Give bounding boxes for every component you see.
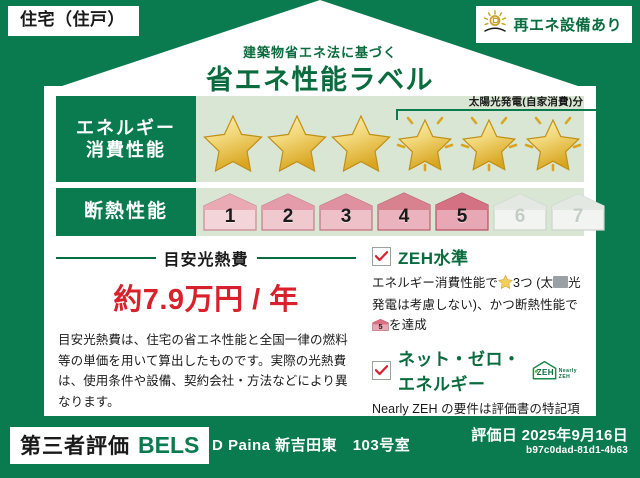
energy-star-rating [196, 112, 584, 172]
insulation-performance-row: 断熱性能 1 2 [56, 188, 584, 236]
insulation-level-6-value: 6 [492, 206, 548, 228]
net-zero-energy-title: ネット・ゼロ・エネルギー ZEH Nearly ZEH [398, 345, 584, 395]
insulation-badge-icon: 5 [372, 318, 389, 332]
insulation-level-1-value: 1 [202, 206, 258, 228]
insulation-level-5-value: 5 [434, 206, 490, 228]
label-content: エネルギー 消費性能 太陽光発電(自家消費)分 [44, 96, 596, 408]
label-title: 省エネ性能ラベル [0, 58, 640, 97]
divider-left [56, 257, 156, 259]
star-icon [266, 112, 328, 172]
evaluation-date: 評価日 2025年9月16日 [471, 424, 628, 445]
zeh-logo-subtext: Nearly ZEH [559, 369, 584, 383]
insulation-level-3-value: 3 [318, 206, 374, 228]
insulation-level-6: 6 [492, 192, 548, 232]
bels-tag-jp: 第三者評価 [20, 430, 130, 460]
energy-cost-description: 目安光熱費は、住宅の省エネ性能と全国一律の燃料等の単価を用いて算出したものです。… [56, 330, 356, 413]
insulation-level-7-value: 7 [550, 206, 606, 228]
star-icon-solar [522, 112, 584, 172]
energy-performance-row: エネルギー 消費性能 太陽光発電(自家消費)分 [56, 96, 584, 182]
solar-generation-note: 太陽光発電(自家消費)分 [396, 94, 640, 109]
insulation-level-2-value: 2 [260, 206, 316, 228]
svg-text:ZEH: ZEH [536, 368, 553, 377]
star-icon-inline [498, 274, 513, 295]
dwelling-type-tag: 住宅（住戸） [8, 6, 139, 36]
star-icon-solar [458, 112, 520, 172]
insulation-level-scale: 1 2 3 [196, 192, 606, 232]
energy-cost-heading: 目安光熱費 [56, 246, 356, 270]
insulation-performance-label: 断熱性能 [56, 188, 196, 236]
insulation-level-4: 4 [376, 192, 432, 232]
insulation-performance-value: 1 2 3 [196, 188, 606, 236]
insulation-level-7: 7 [550, 192, 606, 232]
energy-performance-label: エネルギー 消費性能 [56, 96, 196, 182]
energy-performance-label-line1: エネルギー [76, 117, 176, 140]
check-icon [372, 361, 391, 380]
evaluation-id: b97c0dad-81d1-4b63 [526, 445, 628, 456]
star-icon [202, 112, 264, 172]
lower-section: 目安光熱費 約7.9万円 / 年 目安光熱費は、住宅の省エネ性能と全国一律の燃料… [56, 244, 584, 394]
energy-label-card: 住宅（住戸） 再エネ設備あり 建築物省エネ法に基づく 省エネ性能 [0, 0, 640, 478]
zeh-body-part2: 3つ (太 [513, 276, 553, 290]
energy-performance-label-line2: 消費性能 [86, 139, 166, 162]
net-zero-energy-heading: ネット・ゼロ・エネルギー ZEH Nearly ZEH [372, 345, 584, 395]
net-zero-energy-title-text: ネット・ゼロ・エネルギー [398, 345, 527, 395]
zeh-standard-title: ZEH水準 [398, 244, 469, 269]
star-icon-solar [394, 112, 456, 172]
bels-tag-en: BELS [138, 432, 199, 459]
renewable-badge-label: 再エネ設備あり [513, 14, 622, 35]
check-icon [372, 247, 391, 266]
svg-text:5: 5 [378, 322, 382, 331]
star-icon [330, 112, 392, 172]
insulation-level-4-value: 4 [376, 206, 432, 228]
redaction-block [553, 276, 568, 288]
renewable-equipment-badge: 再エネ設備あり [476, 6, 632, 43]
zeh-standard-heading: ZEH水準 [372, 244, 584, 269]
zeh-panel: ZEH水準 エネルギー消費性能で3つ (太光発電は考慮しない)、かつ断熱性能で5… [356, 244, 584, 394]
insulation-level-2: 2 [260, 192, 316, 232]
divider-right [257, 257, 357, 259]
insulation-level-3: 3 [318, 192, 374, 232]
energy-performance-value: 太陽光発電(自家消費)分 [196, 96, 584, 182]
building-name: D Paina 新吉田東 103号室 [212, 434, 410, 455]
energy-cost-amount: 約7.9万円 / 年 [56, 276, 356, 318]
insulation-level-5: 5 [434, 192, 490, 232]
bels-certification-tag: 第三者評価 BELS [10, 427, 209, 464]
energy-cost-heading-text: 目安光熱費 [164, 246, 249, 270]
energy-cost-panel: 目安光熱費 約7.9万円 / 年 目安光熱費は、住宅の省エネ性能と全国一律の燃料… [56, 244, 356, 394]
zeh-logo-icon: ZEH Nearly ZEH [531, 357, 584, 383]
zeh-body-part4: を達成 [389, 318, 427, 332]
insulation-level-1: 1 [202, 192, 258, 232]
zeh-standard-body: エネルギー消費性能で3つ (太光発電は考慮しない)、かつ断熱性能で5を達成 [372, 273, 584, 335]
zeh-body-part1: エネルギー消費性能で [372, 276, 498, 290]
sun-energy-icon [482, 10, 508, 39]
footer-bar: 第三者評価 BELS D Paina 新吉田東 103号室 評価日 2025年9… [0, 416, 640, 478]
zeh-standard-block: ZEH水準 エネルギー消費性能で3つ (太光発電は考慮しない)、かつ断熱性能で5… [372, 244, 584, 335]
